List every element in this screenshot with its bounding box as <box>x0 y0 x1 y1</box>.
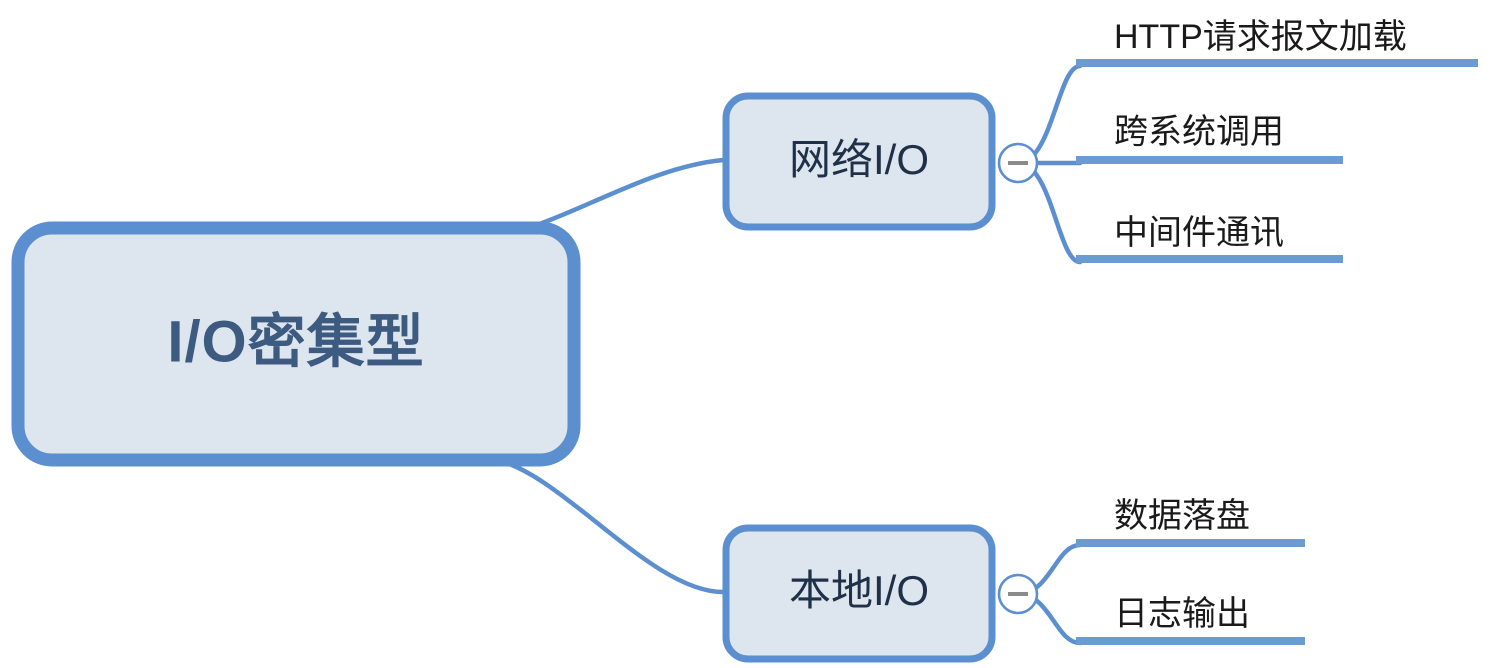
leaf-node-log-output[interactable]: 日志输出 <box>1076 595 1305 645</box>
leaf-node-cross-system-call[interactable]: 跨系统调用 <box>1076 113 1343 164</box>
leaf-node-http-request-payload-label: HTTP请求报文加载 <box>1114 18 1407 56</box>
leaf-node-middleware-communication-label: 中间件通讯 <box>1114 214 1284 252</box>
branch-node-local-io-label: 本地I/O <box>789 567 929 614</box>
leaf-node-data-persistence[interactable]: 数据落盘 <box>1076 497 1305 547</box>
leaf-node-log-output-bar <box>1076 637 1305 645</box>
leaf-node-data-persistence-bar <box>1076 539 1305 547</box>
mindmap-svg: I/O密集型 网络I/O HTTP请求报文加载 跨系统调用 中间件通讯 <box>0 0 1492 668</box>
root-node-label: I/O密集型 <box>167 309 424 374</box>
leaf-node-cross-system-call-label: 跨系统调用 <box>1114 113 1284 151</box>
leaf-node-data-persistence-label: 数据落盘 <box>1114 497 1250 535</box>
leaf-node-cross-system-call-bar <box>1076 156 1343 164</box>
branch-node-network-io-label: 网络I/O <box>789 136 929 183</box>
leaf-node-middleware-communication-bar <box>1076 255 1343 263</box>
root-node[interactable]: I/O密集型 <box>18 228 574 460</box>
leaf-node-http-request-payload-bar <box>1076 59 1478 67</box>
branch-node-local-io[interactable]: 本地I/O <box>726 528 992 659</box>
leaf-node-log-output-label: 日志输出 <box>1114 595 1250 633</box>
collapse-toggle-network-io[interactable] <box>999 144 1037 182</box>
mindmap-canvas: I/O密集型 网络I/O HTTP请求报文加载 跨系统调用 中间件通讯 <box>0 0 1492 668</box>
branch-node-network-io[interactable]: 网络I/O <box>726 96 992 227</box>
collapse-toggle-local-io[interactable] <box>999 575 1037 613</box>
leaf-node-http-request-payload[interactable]: HTTP请求报文加载 <box>1076 18 1478 67</box>
leaf-node-middleware-communication[interactable]: 中间件通讯 <box>1076 214 1343 263</box>
connector-root-to-local-io <box>492 459 723 592</box>
